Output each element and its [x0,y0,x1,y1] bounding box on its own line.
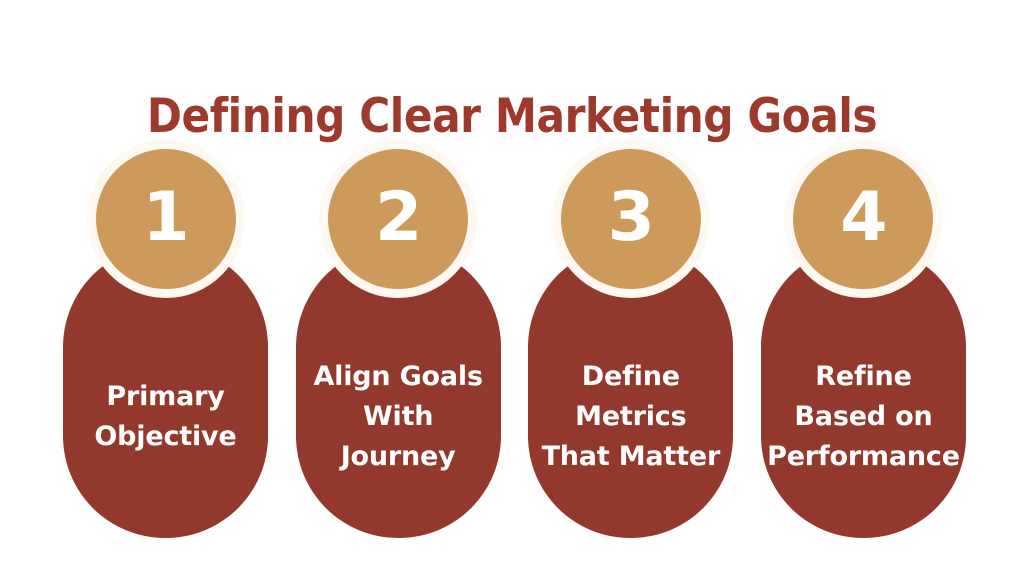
step-label-1: Primary Objective [94,377,236,457]
step-number-3: 3 [608,184,654,252]
steps-row: Primary Objective 1 Align Goals With Jou… [63,140,966,540]
step-badge-2: 2 [319,140,477,298]
page-title: Defining Clear Marketing Goals [51,88,973,146]
step-card-3[interactable]: Define Metrics That Matter 3 [528,140,733,538]
step-label-3: Define Metrics That Matter [542,357,721,477]
step-card-1[interactable]: Primary Objective 1 [63,140,268,538]
step-number-2: 2 [375,184,421,252]
step-label-2: Align Goals With Journey [313,357,482,477]
step-label-4: Refine Based on Performance [767,357,960,477]
step-number-4: 4 [840,184,886,252]
step-card-4[interactable]: Refine Based on Performance 4 [761,140,966,538]
step-card-2[interactable]: Align Goals With Journey 2 [296,140,501,538]
infographic-canvas: Defining Clear Marketing Goals Primary O… [0,0,1024,576]
step-badge-3: 3 [552,140,710,298]
step-badge-1: 1 [87,140,245,298]
step-number-1: 1 [142,184,188,252]
step-badge-4: 4 [784,140,942,298]
